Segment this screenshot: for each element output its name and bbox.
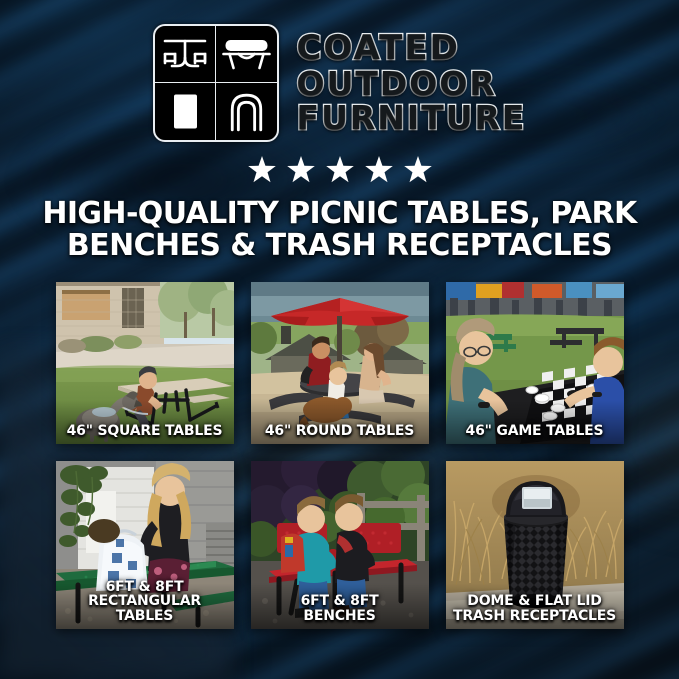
logo-icon-grid [153, 24, 279, 142]
headline-line-1: HIGH-QUALITY PICNIC TABLES, PARK [24, 198, 655, 230]
caption-line-2: RECTANGULAR TABLES [59, 594, 231, 623]
brand-wordmark: COATED OUTDOOR FURNITURE [297, 31, 527, 135]
product-tile-square-tables[interactable]: 46" SQUARE TABLES [56, 282, 234, 444]
headline-line-2: BENCHES & TRASH RECEPTACLES [24, 230, 655, 262]
picnic-table-icon [155, 26, 216, 83]
product-tile-trash-receptacles[interactable]: DOME & FLAT LID TRASH RECEPTACLES [446, 461, 624, 629]
caption-line-2: BENCHES [254, 609, 426, 624]
caption-line-2: TRASH RECEPTACLES [449, 609, 621, 624]
product-caption: 46" SQUARE TABLES [56, 424, 234, 439]
star-rating [0, 156, 679, 185]
product-photo [446, 282, 624, 444]
product-caption: 46" ROUND TABLES [251, 424, 429, 439]
wordmark-line-outdoor: OUTDOOR [297, 67, 527, 101]
bike-rack-icon [216, 83, 277, 140]
park-bench-icon [216, 26, 277, 83]
trash-receptacle-icon [155, 83, 216, 140]
caption-line-1: 46" GAME TABLES [466, 423, 604, 439]
product-tile-round-tables[interactable]: 46" ROUND TABLES [251, 282, 429, 444]
page-title: HIGH-QUALITY PICNIC TABLES, PARK BENCHES… [0, 198, 679, 263]
caption-line-1: 46" SQUARE TABLES [67, 423, 223, 439]
product-caption: 6FT & 8FT BENCHES [251, 594, 429, 623]
product-grid: 46" SQUARE TABLES [56, 282, 624, 629]
product-tile-benches[interactable]: 6FT & 8FT BENCHES [251, 461, 429, 629]
product-caption: 6FT & 8FT RECTANGULAR TABLES [56, 580, 234, 624]
product-photo [251, 282, 429, 444]
product-photo [56, 282, 234, 444]
product-caption: DOME & FLAT LID TRASH RECEPTACLES [446, 594, 624, 623]
caption-line-1: DOME & FLAT LID [449, 594, 621, 609]
star-icon [403, 156, 433, 185]
caption-line-1: 46" ROUND TABLES [265, 423, 414, 439]
product-tile-rectangular-tables[interactable]: 6FT & 8FT RECTANGULAR TABLES [56, 461, 234, 629]
star-icon [247, 156, 277, 185]
star-icon [364, 156, 394, 185]
product-caption: 46" GAME TABLES [446, 424, 624, 439]
wordmark-line-furniture: FURNITURE [297, 101, 527, 135]
star-icon [286, 156, 316, 185]
wordmark-line-coated: COATED [297, 31, 527, 66]
brand-logo: COATED OUTDOOR FURNITURE [0, 0, 679, 142]
star-icon [325, 156, 355, 185]
product-tile-game-tables[interactable]: 46" GAME TABLES [446, 282, 624, 444]
caption-line-1: 6FT & 8FT [254, 594, 426, 609]
